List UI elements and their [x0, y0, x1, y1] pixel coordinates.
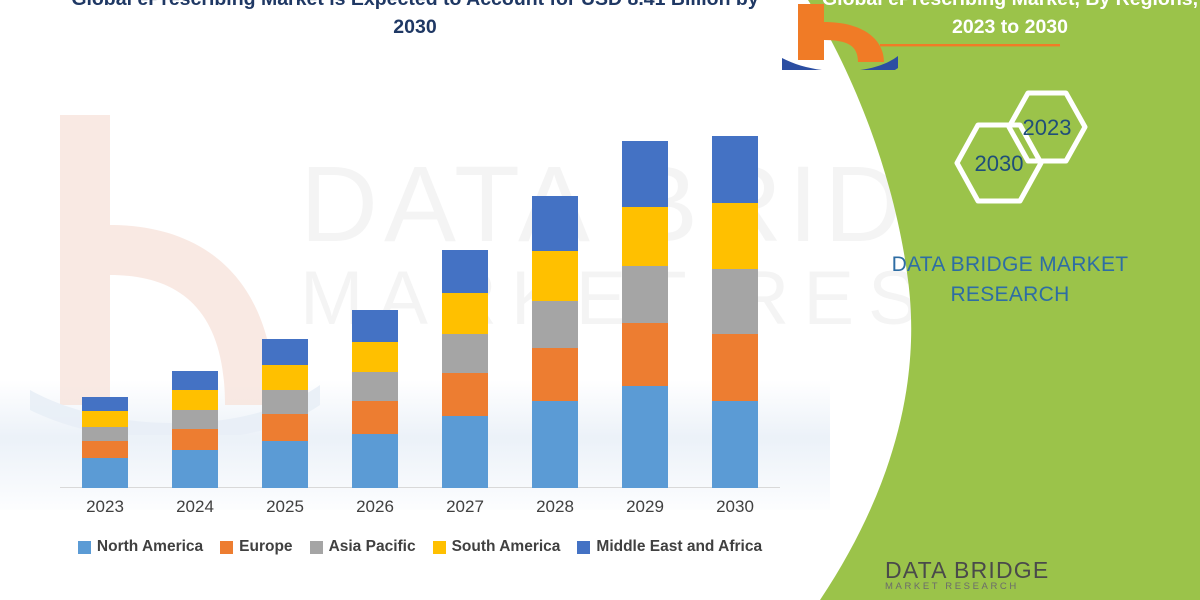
legend-swatch-icon — [433, 541, 446, 554]
brand-line-1: DATA BRIDGE MARKET — [892, 253, 1129, 276]
bar-segment-middle-east-and-africa-2027[interactable] — [442, 250, 488, 293]
legend-label: Europe — [239, 538, 292, 556]
legend-label: Asia Pacific — [329, 538, 416, 556]
bar-segment-europe-2025[interactable] — [262, 414, 308, 442]
bar-segment-south-america-2030[interactable] — [712, 203, 758, 268]
bar-segment-middle-east-and-africa-2029[interactable] — [622, 141, 668, 207]
dbmr-logo-icon — [780, 0, 1160, 70]
bar-slot-2023 — [60, 120, 150, 488]
hexagon-year-2023: 2023 — [1008, 115, 1086, 141]
bar-slot-2027 — [420, 120, 510, 488]
hexagon-year-2030: 2030 — [960, 151, 1038, 177]
x-axis-label-2030: 2030 — [690, 497, 780, 517]
x-axis-label-2025: 2025 — [240, 497, 330, 517]
x-axis-label-2029: 2029 — [600, 497, 690, 517]
legend-item-south-america[interactable]: South America — [433, 538, 561, 556]
x-axis-labels: 20232024202520262027202820292030 — [60, 497, 780, 517]
legend-swatch-icon — [220, 541, 233, 554]
legend-swatch-icon — [577, 541, 590, 554]
bar-segment-north-america-2029[interactable] — [622, 386, 668, 488]
bar-segment-asia-pacific-2025[interactable] — [262, 390, 308, 414]
bar-slot-2028 — [510, 120, 600, 488]
bar-segment-asia-pacific-2028[interactable] — [532, 301, 578, 349]
bar-segment-south-america-2029[interactable] — [622, 207, 668, 266]
bar-segment-middle-east-and-africa-2024[interactable] — [172, 371, 218, 390]
x-axis-label-2024: 2024 — [150, 497, 240, 517]
legend-swatch-icon — [310, 541, 323, 554]
bar-segment-south-america-2023[interactable] — [82, 411, 128, 426]
bar-segment-north-america-2026[interactable] — [352, 434, 398, 488]
bar-segment-europe-2030[interactable] — [712, 334, 758, 401]
legend-item-asia-pacific[interactable]: Asia Pacific — [310, 538, 416, 556]
bar-segment-europe-2023[interactable] — [82, 441, 128, 458]
x-axis-label-2023: 2023 — [60, 497, 150, 517]
bar-segment-europe-2026[interactable] — [352, 401, 398, 434]
bar-segment-south-america-2027[interactable] — [442, 293, 488, 334]
bar-segment-europe-2028[interactable] — [532, 348, 578, 401]
legend-item-europe[interactable]: Europe — [220, 538, 292, 556]
x-axis-label-2026: 2026 — [330, 497, 420, 517]
bar-segment-middle-east-and-africa-2030[interactable] — [712, 136, 758, 203]
bar-segment-europe-2024[interactable] — [172, 429, 218, 451]
bar-segment-north-america-2028[interactable] — [532, 401, 578, 488]
bar-segment-asia-pacific-2030[interactable] — [712, 269, 758, 334]
hexagon-group: 2023 2030 — [780, 85, 1200, 225]
bar-segment-north-america-2025[interactable] — [262, 441, 308, 488]
chart-legend: North AmericaEuropeAsia PacificSouth Ame… — [50, 538, 790, 556]
stacked-bar-group — [60, 120, 780, 488]
brand-line-2: RESEARCH — [950, 283, 1069, 306]
brand-panel: Global ePrescribing Market, By Regions, … — [780, 0, 1200, 600]
dbmr-logo-subtitle: MARKET RESEARCH — [885, 582, 1049, 592]
x-axis-label-2028: 2028 — [510, 497, 600, 517]
legend-item-middle-east-and-africa[interactable]: Middle East and Africa — [577, 538, 762, 556]
bar-segment-south-america-2028[interactable] — [532, 251, 578, 301]
bar-segment-south-america-2024[interactable] — [172, 390, 218, 410]
legend-swatch-icon — [78, 541, 91, 554]
bar-slot-2030 — [690, 120, 780, 488]
dbmr-logo-text: DATA BRIDGE MARKET RESEARCH — [885, 558, 1049, 592]
bar-segment-north-america-2030[interactable] — [712, 401, 758, 488]
stacked-bar-2023[interactable] — [82, 397, 128, 488]
stacked-bar-2026[interactable] — [352, 310, 398, 488]
bar-segment-asia-pacific-2023[interactable] — [82, 427, 128, 441]
bar-segment-south-america-2026[interactable] — [352, 342, 398, 372]
x-axis-label-2027: 2027 — [420, 497, 510, 517]
legend-label: Middle East and Africa — [596, 538, 762, 556]
bar-segment-middle-east-and-africa-2023[interactable] — [82, 397, 128, 411]
bar-slot-2029 — [600, 120, 690, 488]
bar-segment-south-america-2025[interactable] — [262, 365, 308, 390]
bar-slot-2026 — [330, 120, 420, 488]
stacked-bar-2025[interactable] — [262, 339, 308, 488]
chart-plot-area — [60, 120, 780, 488]
legend-label: North America — [97, 538, 203, 556]
stacked-bar-2024[interactable] — [172, 371, 218, 488]
bar-segment-asia-pacific-2026[interactable] — [352, 372, 398, 401]
legend-label: South America — [452, 538, 561, 556]
bar-segment-north-america-2027[interactable] — [442, 416, 488, 488]
brand-name: DATA BRIDGE MARKET RESEARCH — [820, 250, 1200, 311]
bar-segment-middle-east-and-africa-2026[interactable] — [352, 310, 398, 342]
bar-segment-north-america-2023[interactable] — [82, 458, 128, 488]
bar-slot-2024 — [150, 120, 240, 488]
bar-segment-north-america-2024[interactable] — [172, 450, 218, 488]
stacked-bar-2027[interactable] — [442, 250, 488, 488]
bar-segment-europe-2027[interactable] — [442, 373, 488, 417]
bar-segment-middle-east-and-africa-2025[interactable] — [262, 339, 308, 365]
bar-segment-asia-pacific-2029[interactable] — [622, 266, 668, 323]
stacked-bar-2029[interactable] — [622, 141, 668, 488]
chart-title: Global ePrescribing Market is Expected t… — [70, 0, 760, 41]
dbmr-logo-title: DATA BRIDGE — [885, 558, 1049, 582]
bar-segment-asia-pacific-2027[interactable] — [442, 334, 488, 373]
bar-segment-middle-east-and-africa-2028[interactable] — [532, 196, 578, 250]
bar-segment-asia-pacific-2024[interactable] — [172, 410, 218, 429]
bar-slot-2025 — [240, 120, 330, 488]
bar-segment-europe-2029[interactable] — [622, 323, 668, 386]
infographic-canvas: DATA BRIDGE MARKET RESEARCH Global ePres… — [0, 0, 1200, 600]
stacked-bar-2028[interactable] — [532, 196, 578, 488]
legend-item-north-america[interactable]: North America — [78, 538, 203, 556]
stacked-bar-2030[interactable] — [712, 136, 758, 488]
